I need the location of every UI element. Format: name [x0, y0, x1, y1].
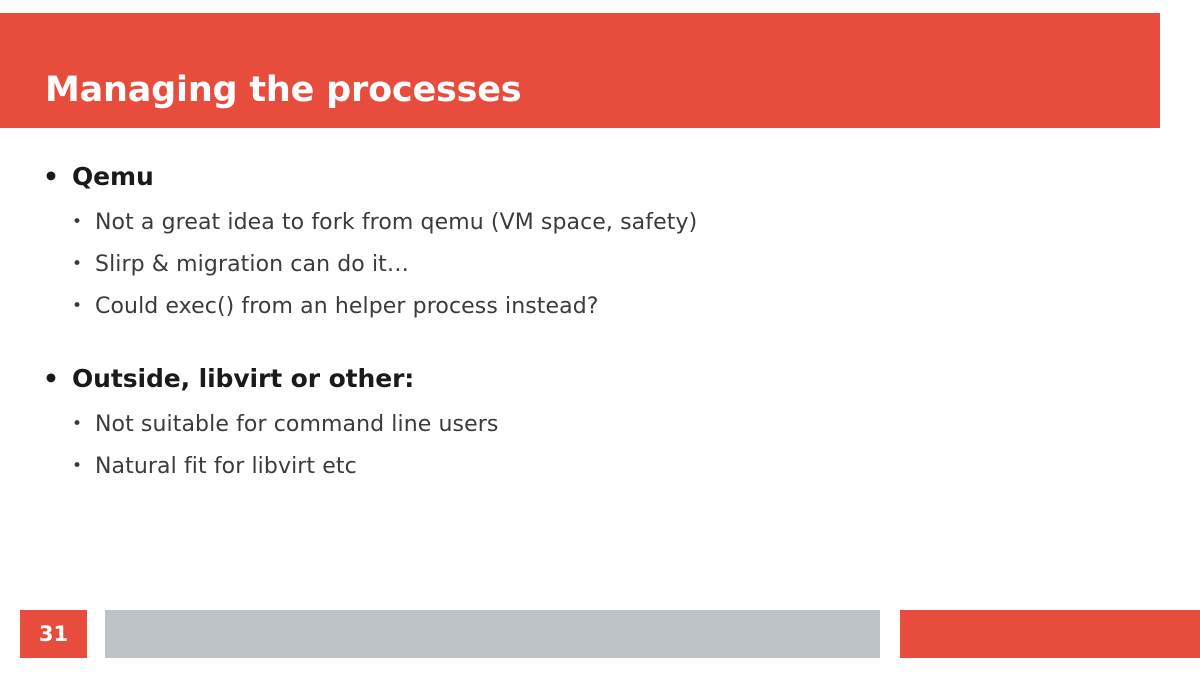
bullet-group-qemu: • Qemu • Not a great idea to fork from q…: [0, 160, 1200, 320]
slide-title: Managing the processes: [45, 68, 521, 112]
bullet-heading-outside-libvirt: • Outside, libvirt or other:: [0, 362, 1200, 396]
bullet-item-label: Slirp & migration can do it…: [95, 252, 409, 277]
slide-content: • Qemu • Not a great idea to fork from q…: [0, 160, 1200, 480]
slide: Managing the processes • Qemu • Not a gr…: [0, 0, 1200, 674]
bullet-item: • Not a great idea to fork from qemu (VM…: [0, 209, 1200, 236]
bullet-marker-icon: •: [72, 293, 82, 320]
footer-gray-bar: [105, 610, 880, 658]
bullet-group-outside-libvirt: • Outside, libvirt or other: • Not suita…: [0, 362, 1200, 480]
bullet-marker-icon: •: [43, 362, 59, 396]
bullet-item: • Not suitable for command line users: [0, 411, 1200, 438]
bullet-item: • Slirp & migration can do it…: [0, 251, 1200, 278]
bullet-heading-label: Qemu: [72, 162, 154, 191]
bullet-marker-icon: •: [43, 160, 59, 194]
footer-red-bar: [900, 610, 1200, 658]
bullet-marker-icon: •: [72, 209, 82, 236]
bullet-item-label: Could exec() from an helper process inst…: [95, 294, 599, 319]
bullet-heading-label: Outside, libvirt or other:: [72, 364, 414, 393]
bullet-heading-qemu: • Qemu: [0, 160, 1200, 194]
bullet-item: • Natural fit for libvirt etc: [0, 453, 1200, 480]
slide-footer: 31: [0, 610, 1200, 658]
bullet-item-label: Natural fit for libvirt etc: [95, 454, 357, 479]
bullet-item-label: Not a great idea to fork from qemu (VM s…: [95, 210, 697, 235]
bullet-item: • Could exec() from an helper process in…: [0, 293, 1200, 320]
bullet-item-label: Not suitable for command line users: [95, 412, 498, 437]
bullet-marker-icon: •: [72, 453, 82, 480]
page-number-badge: 31: [20, 610, 87, 658]
bullet-marker-icon: •: [72, 251, 82, 278]
bullet-marker-icon: •: [72, 411, 82, 438]
